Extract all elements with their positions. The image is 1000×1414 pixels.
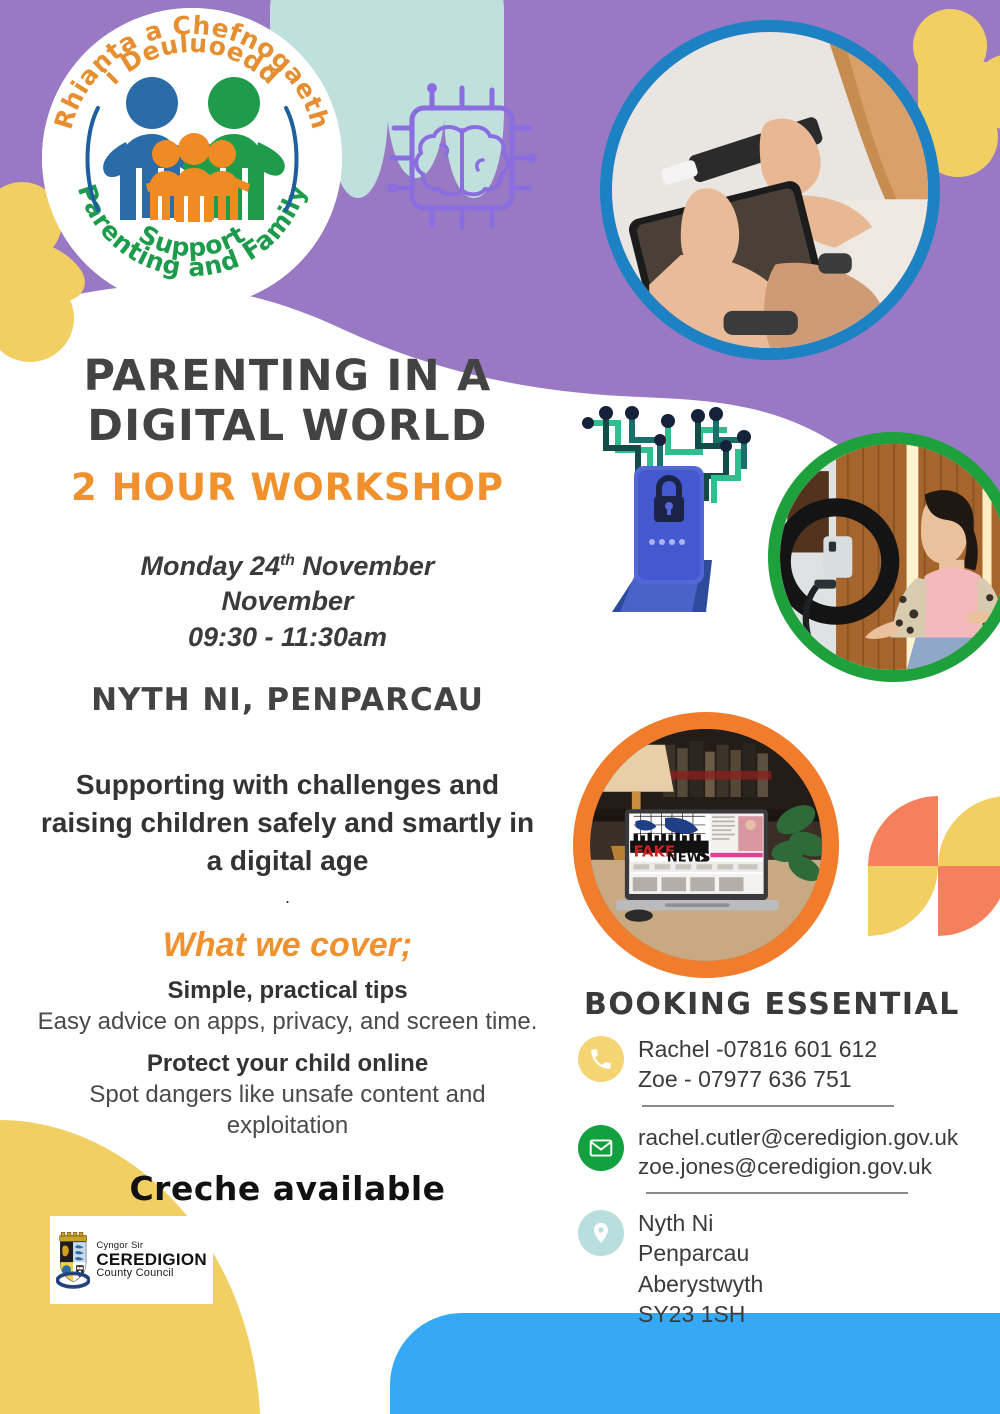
- event-month-line: November: [0, 584, 575, 620]
- decorative-dot: .: [0, 887, 575, 909]
- event-date-text: Monday 24: [141, 551, 281, 581]
- venue-address: Nyth Ni Penparcau Aberystwyth SY23 1SH: [638, 1208, 978, 1329]
- envelope-icon: [578, 1125, 624, 1171]
- phone-lock-network-illustration: [582, 406, 751, 612]
- address-line-2: Penparcau: [638, 1238, 978, 1268]
- phone-numbers: Rachel -07816 601 612 Zoe - 07977 636 75…: [638, 1034, 978, 1095]
- photo-laptop-fake-news: FAKE NEWS: [573, 712, 839, 978]
- map-pin-icon: [578, 1210, 624, 1256]
- phone-icon: [578, 1036, 624, 1082]
- organisation-logo: Rhianta a Chefnogaeth i Deuluoedd Parent…: [42, 8, 342, 308]
- address-line-4: SY23 1SH: [638, 1299, 978, 1329]
- workshop-subtitle: 2 HOUR WORKSHOP: [0, 466, 575, 509]
- cover-item-1-title: Simple, practical tips: [0, 975, 575, 1006]
- quarter-circle-pattern: [868, 796, 1000, 936]
- council-wordmark: Cyngor Sir CEREDIGION County Council: [96, 1241, 207, 1279]
- contact-row-email: rachel.cutler@ceredigion.gov.uk zoe.jone…: [578, 1123, 978, 1182]
- address-line-1: Nyth Ni: [638, 1208, 978, 1238]
- phone-contact-2[interactable]: Zoe - 07977 636 751: [638, 1064, 978, 1094]
- event-time-line: 09:30 - 11:30am: [0, 620, 575, 656]
- email-addresses: rachel.cutler@ceredigion.gov.uk zoe.jone…: [638, 1123, 978, 1182]
- council-line-2: CEREDIGION: [96, 1251, 207, 1268]
- photo-woman-presenting: [768, 432, 1000, 682]
- photo-woman-presenting-art: [780, 444, 1000, 670]
- what-we-cover-heading: What we cover;: [0, 926, 575, 965]
- main-content-column: PARENTING IN A DIGITAL WORLD 2 HOUR WORK…: [0, 352, 575, 1208]
- poster-canvas: FAKE NEWS: [0, 0, 1000, 1414]
- divider-2: [646, 1192, 908, 1194]
- phone-icon-glyph: [588, 1046, 614, 1072]
- ceredigion-council-logo: Cyngor Sir CEREDIGION County Council: [50, 1216, 213, 1304]
- title-line-1: PARENTING IN A: [55, 352, 520, 402]
- event-venue: NYTH NI, PENPARCAU: [0, 682, 575, 718]
- organisation-logo-art: Rhianta a Chefnogaeth i Deuluoedd Parent…: [42, 8, 342, 308]
- event-datetime: Monday 24th November November 09:30 - 11…: [0, 549, 575, 656]
- title-line-2: DIGITAL WORLD: [55, 402, 520, 452]
- event-date-line: Monday 24th November: [0, 549, 575, 585]
- creche-note: Creche available: [0, 1169, 575, 1208]
- divider-1: [642, 1105, 894, 1107]
- cover-item-2-text: Spot dangers like unsafe content and exp…: [0, 1079, 575, 1141]
- booking-title: BOOKING ESSENTIAL: [584, 987, 978, 1022]
- phone-contact-1[interactable]: Rachel -07816 601 612: [638, 1034, 978, 1064]
- cover-item-1-text: Easy advice on apps, privacy, and screen…: [0, 1006, 575, 1037]
- event-month-text: November: [295, 551, 435, 581]
- envelope-icon-glyph: [588, 1135, 614, 1161]
- address-line-3: Aberystwyth: [638, 1269, 978, 1299]
- contact-row-address: Nyth Ni Penparcau Aberystwyth SY23 1SH: [578, 1208, 978, 1329]
- photo-laptop-fake-news-art: FAKE NEWS: [590, 729, 822, 961]
- photo-hands-smartphone-art: [612, 32, 928, 348]
- booking-panel: BOOKING ESSENTIAL Rachel -07816 601 612 …: [578, 987, 978, 1330]
- page-title: PARENTING IN A DIGITAL WORLD: [0, 352, 575, 452]
- email-contact-2[interactable]: zoe.jones@ceredigion.gov.uk: [638, 1152, 978, 1182]
- council-crest-icon: [56, 1223, 90, 1297]
- council-line-3: County Council: [96, 1268, 207, 1279]
- email-contact-1[interactable]: rachel.cutler@ceredigion.gov.uk: [638, 1123, 978, 1153]
- map-pin-icon-glyph: [588, 1220, 614, 1246]
- cover-item-2-title: Protect your child online: [0, 1048, 575, 1079]
- photo-hands-smartphone: [600, 20, 940, 360]
- event-description: Supporting with challenges and raising c…: [0, 766, 575, 881]
- contact-row-phone: Rachel -07816 601 612 Zoe - 07977 636 75…: [578, 1034, 978, 1095]
- date-ordinal-suffix: th: [280, 552, 295, 569]
